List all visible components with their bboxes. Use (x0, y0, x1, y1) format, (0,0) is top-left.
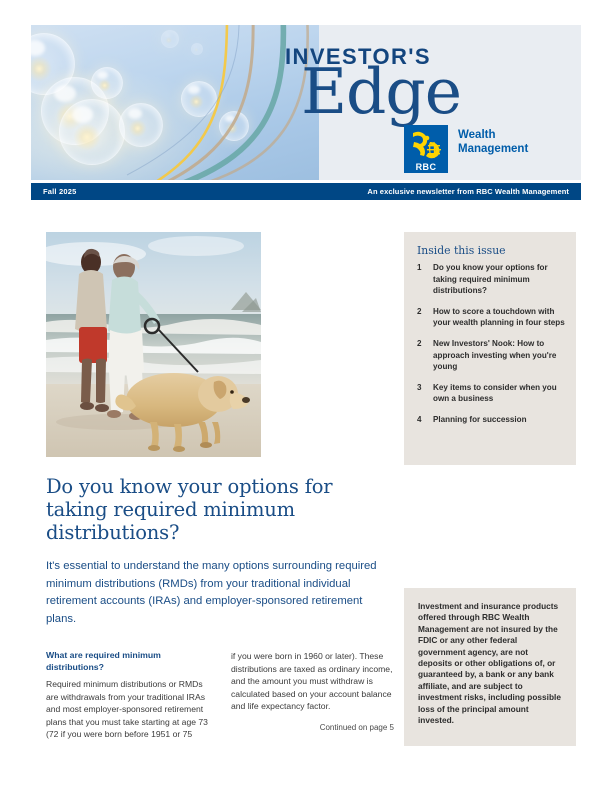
hero-photo (46, 232, 261, 457)
toc-item[interactable]: 2 How to score a touchdown with your wea… (417, 306, 567, 329)
wealth-management-label: Wealth Management (458, 128, 528, 156)
toc-title: Inside this issue (417, 244, 506, 257)
toc-item-label: New Investors' Nook: How to approach inv… (433, 338, 567, 373)
toc-item[interactable]: 1 Do you know your options for taking re… (417, 262, 567, 297)
toc-item-label: Key items to consider when you own a bus… (433, 382, 567, 405)
disclaimer-text: Investment and insurance products offere… (418, 601, 564, 726)
wm-line-2: Management (458, 142, 528, 156)
toc-list: 1 Do you know your options for taking re… (417, 262, 567, 435)
wm-line-1: Wealth (458, 128, 528, 142)
rbc-wordmark: RBC (404, 161, 448, 173)
toc-page-number: 3 (417, 382, 433, 405)
toc-item[interactable]: 2 New Investors' Nook: How to approach i… (417, 338, 567, 373)
rbc-logo: RBC Wealth Management (404, 125, 554, 173)
toc-item[interactable]: 4 Planning for succession (417, 414, 567, 426)
lead-article: Do you know your options for taking requ… (46, 475, 394, 741)
page-title: Edge (301, 60, 461, 123)
article-body-two: if you were born in 1960 or later). Thes… (231, 650, 394, 713)
toc-item[interactable]: 3 Key items to consider when you own a b… (417, 382, 567, 405)
issue-bar: Fall 2025 An exclusive newsletter from R… (31, 183, 581, 200)
disclaimer-panel: Investment and insurance products offere… (404, 588, 576, 746)
toc-page-number: 1 (417, 262, 433, 297)
toc-page-number: 2 (417, 338, 433, 373)
newsletter-page: INVESTOR'S Edge RBC Wealth Management (0, 0, 612, 792)
newsletter-tagline: An exclusive newsletter from RBC Wealth … (367, 183, 569, 200)
toc-item-label: Do you know your options for taking requ… (433, 262, 567, 297)
toc-page-number: 2 (417, 306, 433, 329)
toc-item-label: Planning for succession (433, 414, 527, 426)
inside-this-issue-panel: Inside this issue 1 Do you know your opt… (404, 232, 576, 465)
toc-item-label: How to score a touchdown with your wealt… (433, 306, 567, 329)
continued-note: Continued on page 5 (46, 723, 394, 732)
article-headline: Do you know your options for taking requ… (46, 475, 394, 544)
issue-date: Fall 2025 (43, 183, 77, 200)
article-deck: It's essential to understand the many op… (46, 558, 394, 628)
article-subhead: What are required minimum distributions? (46, 650, 209, 673)
toc-page-number: 4 (417, 414, 433, 426)
